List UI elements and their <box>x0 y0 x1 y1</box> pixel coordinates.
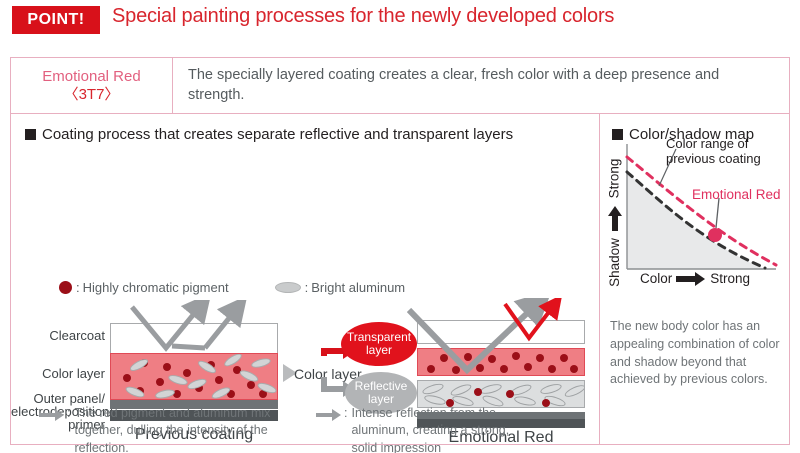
red-dot-icon <box>59 281 72 294</box>
bubble-transparent-layer: Transparent layer <box>341 322 417 366</box>
legend-colon: : <box>76 280 80 295</box>
note-previous-text: The red pigment and aluminum mix togethe… <box>74 405 289 453</box>
legend-label-pigment: Highly chromatic pigment <box>83 280 229 295</box>
aluminum-flake-icon <box>275 282 301 293</box>
y-axis-arrow-icon <box>607 206 623 232</box>
label-color-layer-left: Color layer <box>17 367 105 382</box>
point-emotional-red <box>708 228 722 242</box>
coating-process-panel: Coating process that creates separate re… <box>11 114 599 445</box>
bubble-reflective-line1: Reflective <box>355 379 408 393</box>
page-title: Special painting processes for the newly… <box>112 5 614 28</box>
color-name-cell: Emotional Red 〈3T7〉 <box>11 58 173 113</box>
legend-colon: : <box>305 280 309 295</box>
color-description: The specially layered coating creates a … <box>188 66 779 105</box>
legend-label-aluminum: Bright aluminum <box>311 280 405 295</box>
content-frame: Emotional Red 〈3T7〉 The specially layere… <box>10 57 790 445</box>
screenshot-root: POINT! Special painting processes for th… <box>0 0 800 453</box>
color-code: 〈3T7〉 <box>64 86 120 103</box>
note-previous: : The red pigment and aluminum mix toget… <box>39 405 289 453</box>
annotation-previous-range: Color range of previous coating <box>666 136 776 167</box>
bubble-transparent-line1: Transparent <box>347 330 411 344</box>
y-axis-title: Shadow <box>604 230 624 294</box>
color-description-cell: The specially layered coating creates a … <box>174 58 789 113</box>
gray-arrow-icon <box>316 408 342 422</box>
x-axis-labels: Color Strong <box>640 271 750 286</box>
note-emotional-1-text: Intense reflection from the aluminum, cr… <box>351 405 526 453</box>
bubble-transparent-line2: layer <box>366 343 392 357</box>
gray-arrow-icon <box>39 408 65 422</box>
diagram-legend: : Highly chromatic pigment : Bright alum… <box>59 280 405 295</box>
x-axis-arrow-icon <box>676 272 706 286</box>
emotional-reflection-arrows <box>407 298 597 388</box>
x-axis-strong-label: Strong <box>710 271 750 286</box>
note-colon: : <box>67 405 70 422</box>
bullet-square-icon <box>25 129 36 140</box>
color-shadow-map-panel: Color/shadow map Strong Shadow <box>600 114 789 445</box>
color-name: Emotional Red <box>42 68 140 85</box>
annotation-emotional-red: Emotional Red <box>692 187 781 203</box>
left-section-heading-text: Coating process that creates separate re… <box>42 126 513 143</box>
point-badge: POINT! <box>12 6 100 34</box>
x-axis-title: Color <box>640 271 672 286</box>
left-section-heading: Coating process that creates separate re… <box>25 126 513 143</box>
previous-reflection-arrows <box>110 300 300 372</box>
color-name-row: Emotional Red 〈3T7〉 The specially layere… <box>11 58 789 114</box>
label-clearcoat: Clearcoat <box>17 329 105 344</box>
color-shadow-chart: Strong Shadow <box>600 114 789 314</box>
right-panel-note: The new body color has an appealing comb… <box>610 318 786 389</box>
note-emotional-1: : Intense reflection from the aluminum, … <box>316 405 526 453</box>
note-colon: : <box>344 405 347 422</box>
y-axis-strong-label: Strong <box>604 150 624 206</box>
page-header: POINT! Special painting processes for th… <box>0 0 800 46</box>
bubble-reflective-line2: layer <box>368 392 394 406</box>
